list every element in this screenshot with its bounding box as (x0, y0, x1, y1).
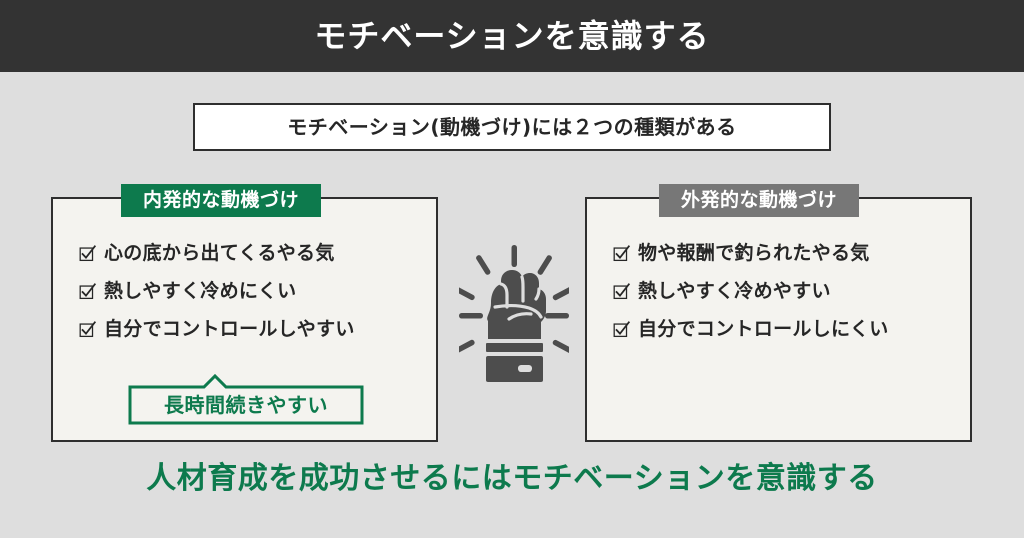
checked-box-icon (79, 321, 96, 338)
subtitle-text: モチベーション(動機づけ)には２つの種類がある (287, 117, 736, 137)
checklist-intrinsic: 心の底から出てくるやる気 熱しやすく冷めにくい (79, 243, 426, 357)
checked-box-icon (79, 283, 96, 300)
list-item: 自分でコントロールしにくい (613, 319, 960, 340)
list-item: 物や報酬で釣られたやる気 (613, 243, 960, 264)
list-item-label: 物や報酬で釣られたやる気 (638, 243, 870, 264)
checked-box-icon (613, 283, 630, 300)
list-item-label: 熱しやすく冷めやすい (638, 281, 831, 302)
callout-text: 長時間続きやすい (164, 395, 328, 415)
panel-label-extrinsic: 外発的な動機づけ (659, 184, 859, 217)
checklist-extrinsic: 物や報酬で釣られたやる気 熱しやすく冷めやすい (613, 243, 960, 357)
checked-box-icon (613, 321, 630, 338)
subtitle-box: モチベーション(動機づけ)には２つの種類がある (193, 103, 831, 151)
checked-box-icon (613, 245, 630, 262)
list-item-label: 自分でコントロールしにくい (638, 319, 889, 340)
list-item: 熱しやすく冷めやすい (613, 281, 960, 302)
raised-fist-icon (459, 243, 569, 388)
checked-box-icon (79, 245, 96, 262)
list-item-label: 心の底から出てくるやる気 (104, 243, 335, 264)
callout-body: 長時間続きやすい (128, 385, 364, 425)
page-title: モチベーションを意識する (0, 0, 1024, 72)
list-item: 心の底から出てくるやる気 (79, 243, 426, 264)
footer-text: 人材育成を成功させるにはモチベーションを意識する (0, 455, 1024, 503)
list-item: 自分でコントロールしやすい (79, 319, 426, 340)
list-item-label: 自分でコントロールしやすい (104, 319, 355, 340)
list-item: 熱しやすく冷めにくい (79, 281, 426, 302)
list-item-label: 熱しやすく冷めにくい (104, 281, 296, 302)
infographic-canvas: モチベーションを意識する モチベーション(動機づけ)には２つの種類がある 内発的… (0, 0, 1024, 538)
panel-label-intrinsic: 内発的な動機づけ (121, 184, 321, 217)
callout-long-lasting: 長時間続きやすい (128, 385, 364, 425)
panel-extrinsic-motivation: 外発的な動機づけ 物や報酬で釣られたやる気 熱し (585, 197, 972, 442)
